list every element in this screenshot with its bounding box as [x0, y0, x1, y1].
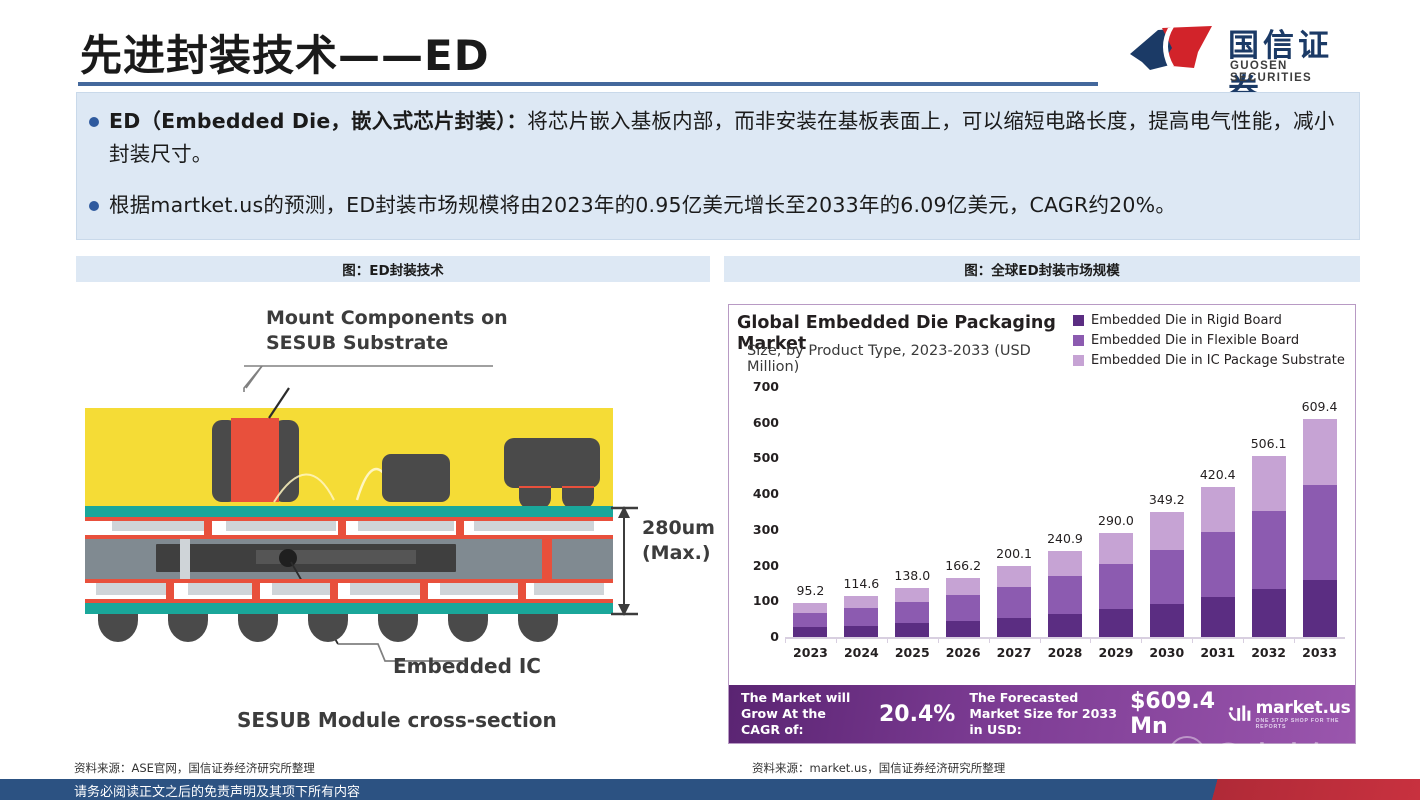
x-tickmark — [1141, 637, 1142, 643]
bar-stack — [1099, 533, 1133, 637]
bar-segment — [997, 587, 1031, 618]
bar-segment — [946, 595, 980, 621]
x-tickmark — [989, 637, 990, 643]
chart-plot-area: 7006005004003002001000 95.2114.6138.0166… — [729, 387, 1355, 667]
x-tick-2027: 2027 — [989, 645, 1040, 660]
bar-segment — [1048, 551, 1082, 576]
bar-value-label: 609.4 — [1302, 399, 1338, 414]
bullet-1-bold: ED（Embedded Die，嵌入式芯片封装）： — [109, 109, 527, 133]
legend-swatch-icon — [1073, 335, 1084, 346]
bar-stack — [895, 588, 929, 637]
market-size-chart: Global Embedded Die Packaging Market Siz… — [728, 304, 1356, 744]
bullet-dot-icon — [89, 201, 99, 211]
bar-segment — [1048, 614, 1082, 637]
bullet-item-2: 根据martket.us的预测，ED封装市场规模将由2023年的0.95亿美元增… — [89, 189, 1347, 222]
bar-segment — [1201, 487, 1235, 532]
y-tick-100: 100 — [753, 593, 779, 608]
bar-segment — [997, 618, 1031, 637]
cagr-label: The Market will Grow At the CAGR of: — [741, 690, 867, 737]
bullet-dot-icon — [89, 117, 99, 127]
bar-value-label: 166.2 — [945, 558, 981, 573]
bar-segment — [793, 613, 827, 628]
y-tick-0: 0 — [770, 629, 779, 644]
label-sesub-cross-section: SESUB Module cross-section — [237, 708, 557, 732]
bar-stack — [946, 578, 980, 637]
bar-stack — [1303, 419, 1337, 637]
bar-segment — [1303, 485, 1337, 579]
bar-value-label: 114.6 — [843, 576, 879, 591]
x-tickmark — [1294, 637, 1295, 643]
bar-stack — [997, 566, 1031, 637]
cagr-value: 20.4% — [879, 702, 955, 727]
source-note-right: 资料来源：market.us，国信证券经济研究所整理 — [752, 760, 1005, 776]
bar-segment — [1252, 456, 1286, 510]
bullet-item-1: ED（Embedded Die，嵌入式芯片封装）：将芯片嵌入基板内部，而非安装在… — [89, 105, 1347, 171]
bar-segment — [844, 626, 878, 637]
bar-segment — [1150, 604, 1184, 637]
bar-value-label: 200.1 — [996, 546, 1032, 561]
legend-item-1[interactable]: Embedded Die in Flexible Board — [1073, 333, 1353, 348]
legend-item-0[interactable]: Embedded Die in Rigid Board — [1073, 313, 1353, 328]
bar-segment — [1150, 512, 1184, 549]
chart-legend: Embedded Die in Rigid BoardEmbedded Die … — [1073, 313, 1353, 373]
bar-segment — [997, 566, 1031, 587]
watermark-text: 未来智库 — [1246, 733, 1374, 778]
label-embedded-ic: Embedded IC — [393, 654, 541, 678]
label-thickness-dimension: 280um (Max.) — [642, 516, 715, 565]
x-tick-2024: 2024 — [836, 645, 887, 660]
footer-disclaimer: 请务必阅读正文之后的免责声明及其项下所有内容 — [74, 781, 360, 800]
x-tick-2033: 2033 — [1294, 645, 1345, 660]
x-tick-2031: 2031 — [1192, 645, 1243, 660]
y-tick-400: 400 — [753, 486, 779, 501]
legend-label: Embedded Die in IC Package Substrate — [1091, 353, 1345, 368]
bar-segment — [1048, 576, 1082, 613]
legend-swatch-icon — [1073, 355, 1084, 366]
legend-swatch-icon — [1073, 315, 1084, 326]
bar-segment — [1252, 511, 1286, 589]
y-tick-200: 200 — [753, 558, 779, 573]
bar-segment — [1201, 532, 1235, 597]
y-tick-500: 500 — [753, 450, 779, 465]
y-axis-ticks: 7006005004003002001000 — [737, 387, 779, 637]
footer-accent-shape — [1090, 779, 1420, 800]
x-tick-2023: 2023 — [785, 645, 836, 660]
bar-value-label: 138.0 — [894, 568, 930, 583]
logo-text-en: GUOSEN SECURITIES — [1230, 60, 1360, 84]
bar-value-label: 420.4 — [1200, 467, 1236, 482]
bullet-text-2: 根据martket.us的预测，ED封装市场规模将由2023年的0.95亿美元增… — [109, 189, 1176, 222]
chart-subtitle: Size, by Product Type, 2023-2033 (USD Mi… — [747, 343, 1077, 375]
caption-right: 图：全球ED封装市场规模 — [724, 256, 1360, 282]
x-tickmark — [836, 637, 837, 643]
page-header: 先进封装技术——ED 国信证券 GUOSEN SECURITIES — [0, 0, 1420, 88]
caption-left: 图：ED封装技术 — [76, 256, 710, 282]
bar-segment — [844, 596, 878, 608]
bullet-panel: ED（Embedded Die，嵌入式芯片封装）：将芯片嵌入基板内部，而非安装在… — [76, 92, 1360, 240]
bar-value-label: 240.9 — [1047, 531, 1083, 546]
bar-segment — [844, 608, 878, 626]
x-tick-2029: 2029 — [1090, 645, 1141, 660]
watermark: du @ 未来智库 — [1168, 732, 1408, 778]
x-tick-2028: 2028 — [1040, 645, 1091, 660]
bar-segment — [1099, 533, 1133, 564]
forecast-label: The Forecasted Market Size for 2033 in U… — [969, 690, 1120, 737]
label-mount-components: Mount Components on SESUB Substrate — [266, 306, 526, 356]
x-tickmark — [785, 637, 786, 643]
bar-segment — [1099, 564, 1133, 609]
bar-segment — [946, 621, 980, 637]
x-tickmark — [1040, 637, 1041, 643]
x-axis-line — [785, 637, 1345, 639]
title-underline — [78, 82, 1098, 86]
guosen-logo: 国信证券 GUOSEN SECURITIES — [1128, 18, 1360, 80]
marketus-brand-tagline: ONE STOP SHOP FOR THE REPORTS — [1256, 718, 1355, 730]
marketus-brand-text: market.us — [1256, 698, 1355, 718]
y-tick-600: 600 — [753, 415, 779, 430]
bar-value-label: 349.2 — [1149, 492, 1185, 507]
bar-segment — [793, 603, 827, 613]
bar-segment — [1099, 609, 1133, 637]
bar-segment — [793, 627, 827, 637]
bar-segment — [895, 623, 929, 637]
bar-value-label: 506.1 — [1251, 436, 1287, 451]
y-tick-700: 700 — [753, 379, 779, 394]
bar-segment — [1201, 597, 1235, 637]
bar-value-label: 95.2 — [797, 583, 825, 598]
x-tick-2030: 2030 — [1141, 645, 1192, 660]
bar-segment — [1252, 589, 1286, 637]
bar-segment — [895, 602, 929, 623]
bar-segment — [1303, 580, 1337, 637]
bar-segment — [946, 578, 980, 596]
x-tick-2025: 2025 — [887, 645, 938, 660]
x-tickmark — [938, 637, 939, 643]
page-title: 先进封装技术——ED — [80, 22, 490, 83]
baidu-paw-icon: du — [1168, 736, 1206, 774]
legend-label: Embedded Die in Rigid Board — [1091, 313, 1282, 328]
bar-segment — [895, 588, 929, 602]
marketus-brand: market.us ONE STOP SHOP FOR THE REPORTS — [1227, 698, 1355, 730]
bullet-text-1: ED（Embedded Die，嵌入式芯片封装）：将芯片嵌入基板内部，而非安装在… — [109, 105, 1347, 171]
bar-segment — [1303, 419, 1337, 485]
x-tickmark — [887, 637, 888, 643]
source-note-left: 资料来源：ASE官网，国信证券经济研究所整理 — [74, 760, 315, 776]
x-tick-2026: 2026 — [938, 645, 989, 660]
marketus-logo-icon — [1227, 702, 1253, 726]
bar-value-label: 290.0 — [1098, 513, 1134, 528]
y-tick-300: 300 — [753, 522, 779, 537]
bar-stack — [1150, 512, 1184, 637]
bar-stack — [1048, 551, 1082, 637]
bar-groups: 95.2114.6138.0166.2200.1240.9290.0349.24… — [785, 387, 1345, 637]
ed-packaging-diagram: Mount Components on SESUB Substrate 280u… — [76, 288, 710, 754]
at-symbol-icon: @ — [1212, 738, 1242, 772]
guosen-logo-mark — [1128, 24, 1220, 74]
x-tickmark — [1090, 637, 1091, 643]
x-tick-2032: 2032 — [1243, 645, 1294, 660]
bar-stack — [844, 596, 878, 637]
legend-label: Embedded Die in Flexible Board — [1091, 333, 1299, 348]
x-tickmark — [1192, 637, 1193, 643]
sesub-cross-section-svg — [76, 288, 710, 754]
bar-stack — [793, 603, 827, 637]
x-tickmark — [1243, 637, 1244, 643]
legend-item-2[interactable]: Embedded Die in IC Package Substrate — [1073, 353, 1353, 368]
bar-stack — [1252, 456, 1286, 637]
bar-stack — [1201, 487, 1235, 637]
bar-segment — [1150, 550, 1184, 604]
